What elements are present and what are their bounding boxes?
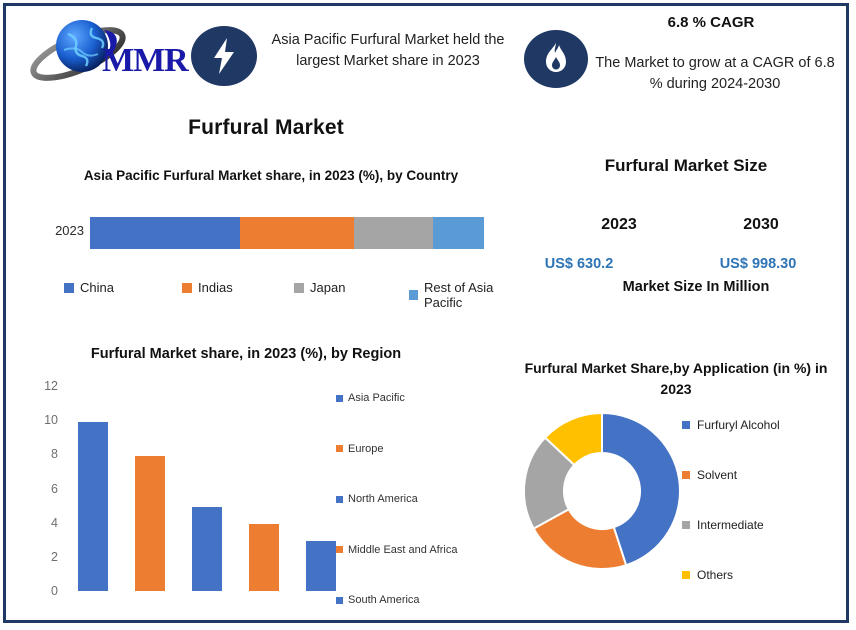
legend-swatch-icon	[682, 471, 690, 479]
y-axis-tick-label: 2	[26, 550, 58, 564]
cagr-title: 6.8 % CAGR	[596, 14, 826, 31]
legend-item-rest-of-asia-pacific[interactable]: Rest of Asia Pacific	[409, 280, 524, 310]
market-size-year-from: 2023	[559, 216, 679, 234]
region-chart-title: Furfural Market share, in 2023 (%), by R…	[26, 346, 466, 362]
market-size-footer: Market Size In Million	[566, 279, 826, 295]
legend-swatch-icon	[336, 597, 343, 604]
y-axis-tick-label: 6	[26, 482, 58, 496]
legend-swatch-icon	[64, 283, 74, 293]
legend-label: Asia Pacific	[348, 392, 405, 404]
stacked-bar-legend: ChinaIndiasJapanRest of Asia Pacific	[64, 280, 524, 300]
legend-item-others[interactable]: Others	[682, 568, 733, 582]
legend-label: China	[80, 280, 114, 295]
mmr-wordmark: MMR	[102, 42, 188, 80]
legend-item-middle-east-and-africa[interactable]: Middle East and Africa	[336, 544, 457, 556]
region-bar-south-america	[306, 541, 336, 591]
page-title: Furfural Market	[6, 116, 526, 140]
legend-swatch-icon	[409, 290, 418, 300]
infographic-frame: MMR Asia Pacific Furfural Market held th…	[3, 3, 849, 623]
legend-item-south-america[interactable]: South America	[336, 594, 420, 606]
legend-swatch-icon	[336, 546, 343, 553]
legend-swatch-icon	[294, 283, 304, 293]
legend-item-solvent[interactable]: Solvent	[682, 468, 737, 482]
y-axis-tick-label: 10	[26, 413, 58, 427]
stacked-bar-title: Asia Pacific Furfural Market share, in 2…	[61, 166, 481, 186]
y-axis-tick-label: 4	[26, 516, 58, 530]
legend-item-china[interactable]: China	[64, 280, 114, 295]
legend-item-asia-pacific[interactable]: Asia Pacific	[336, 392, 405, 404]
legend-label: Others	[697, 568, 733, 582]
legend-item-japan[interactable]: Japan	[294, 280, 345, 295]
legend-label: Solvent	[697, 468, 737, 482]
y-axis-tick-label: 12	[26, 379, 58, 393]
market-size-value-from: US$ 630.2	[519, 256, 639, 272]
y-axis-tick-label: 0	[26, 584, 58, 598]
market-size-year-to: 2030	[701, 216, 821, 234]
stacked-segment-japan	[354, 217, 433, 249]
header-left-text: Asia Pacific Furfural Market held the la…	[258, 30, 518, 72]
flame-icon	[543, 42, 569, 76]
region-bar-europe	[135, 456, 165, 591]
legend-swatch-icon	[682, 421, 690, 429]
region-bar-asia-pacific	[78, 422, 108, 591]
legend-label: Furfuryl Alcohol	[697, 418, 780, 432]
legend-label: Intermediate	[697, 518, 764, 532]
region-bar-chart: 024681012	[26, 386, 356, 616]
lightning-bolt-badge	[191, 26, 257, 86]
flame-badge	[524, 30, 588, 88]
legend-item-indias[interactable]: Indias	[182, 280, 233, 295]
market-size-value-to: US$ 998.30	[698, 256, 818, 272]
header-right-text: The Market to grow at a CAGR of 6.8 % du…	[589, 53, 841, 95]
lightning-bolt-icon	[210, 37, 238, 75]
legend-label: Rest of Asia Pacific	[424, 280, 524, 310]
legend-swatch-icon	[182, 283, 192, 293]
legend-label: North America	[348, 493, 418, 505]
donut-svg	[522, 410, 682, 572]
market-size-title: Furfural Market Size	[526, 156, 846, 176]
legend-item-intermediate[interactable]: Intermediate	[682, 518, 764, 532]
legend-item-furfuryl-alcohol[interactable]: Furfuryl Alcohol	[682, 418, 780, 432]
legend-swatch-icon	[336, 445, 343, 452]
stacked-segment-rest-of-asia-pacific	[433, 217, 484, 249]
region-plot-area	[66, 386, 356, 591]
region-bar-north-america	[192, 507, 222, 591]
legend-label: Middle East and Africa	[348, 544, 457, 556]
legend-label: Indias	[198, 280, 233, 295]
legend-item-north-america[interactable]: North America	[336, 493, 418, 505]
legend-swatch-icon	[336, 496, 343, 503]
y-axis-tick-label: 8	[26, 447, 58, 461]
legend-item-europe[interactable]: Europe	[336, 443, 383, 455]
legend-swatch-icon	[682, 521, 690, 529]
legend-label: Europe	[348, 443, 383, 455]
stacked-segment-indias	[240, 217, 354, 249]
mmr-logo: MMR	[28, 14, 183, 86]
stacked-bar-row-label: 2023	[34, 223, 84, 238]
legend-swatch-icon	[682, 571, 690, 579]
stacked-bar-chart	[90, 217, 484, 249]
stacked-segment-china	[90, 217, 240, 249]
legend-label: Japan	[310, 280, 345, 295]
donut-chart-title: Furfural Market Share,by Application (in…	[511, 358, 841, 400]
region-chart-legend: Asia PacificEuropeNorth AmericaMiddle Ea…	[336, 384, 506, 614]
legend-swatch-icon	[336, 395, 343, 402]
region-bar-middle-east-and-africa	[249, 524, 279, 591]
application-donut-chart	[522, 410, 682, 572]
legend-label: South America	[348, 594, 420, 606]
donut-chart-legend: Furfuryl AlcoholSolventIntermediateOther…	[682, 410, 856, 575]
